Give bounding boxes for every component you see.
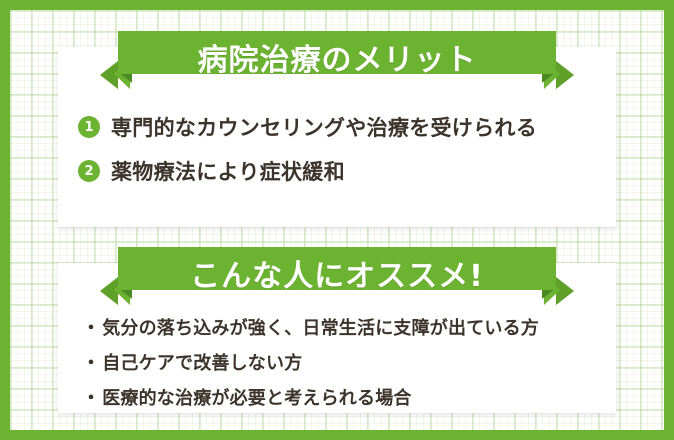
bullet-dot-icon: ・ [82,384,100,410]
recommend-ribbon-banner: こんな人にオススメ! [100,247,574,305]
list-item: ・ 気分の落ち込みが強く、日常生活に支障が出ている方 [82,314,539,340]
list-item: 2 薬物療法により症状緩和 [78,156,537,186]
number-badge: 1 [78,116,100,138]
ribbon-shape [100,247,574,305]
list-item: ・ 自己ケアで改善しない方 [82,349,539,375]
benefits-list: 1 専門的なカウンセリングや治療を受けられる 2 薬物療法により症状緩和 [78,112,537,200]
bullet-dot-icon: ・ [82,349,100,375]
list-item: ・ 医療的な治療が必要と考えられる場合 [82,384,539,410]
list-item: 1 専門的なカウンセリングや治療を受けられる [78,112,537,142]
list-item-label: 薬物療法により症状緩和 [111,156,345,186]
list-item-label: 医療的な治療が必要と考えられる場合 [102,384,411,410]
list-item-label: 専門的なカウンセリングや治療を受けられる [111,112,537,142]
number-badge: 2 [78,160,100,182]
bullet-dot-icon: ・ [82,314,100,340]
ribbon-shape [100,31,574,89]
benefits-ribbon-banner: 病院治療のメリット [100,31,574,89]
infographic-page: 病院治療のメリット 1 専門的なカウンセリングや治療を受けられる 2 薬物療法に… [0,0,674,440]
list-item-label: 自己ケアで改善しない方 [102,349,302,375]
recommend-list: ・ 気分の落ち込みが強く、日常生活に支障が出ている方 ・ 自己ケアで改善しない方… [82,314,539,419]
list-item-label: 気分の落ち込みが強く、日常生活に支障が出ている方 [102,314,539,340]
